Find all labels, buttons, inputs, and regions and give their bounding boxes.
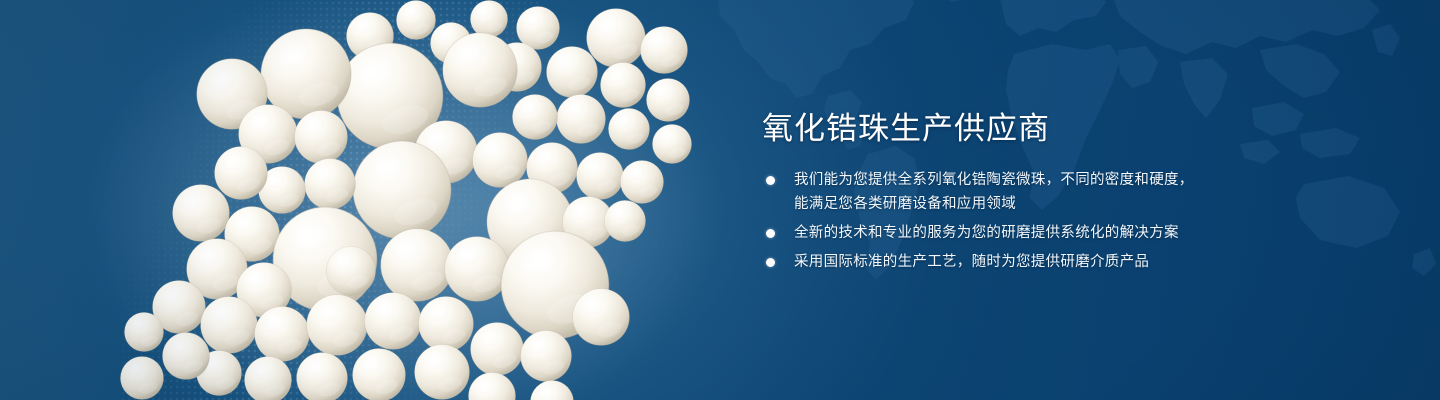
- background-vignette: [0, 0, 1440, 400]
- hero-banner: 氧化锆珠生产供应商 我们能为您提供全系列氧化锆陶瓷微珠，不同的密度和硬度， 能满…: [0, 0, 1440, 400]
